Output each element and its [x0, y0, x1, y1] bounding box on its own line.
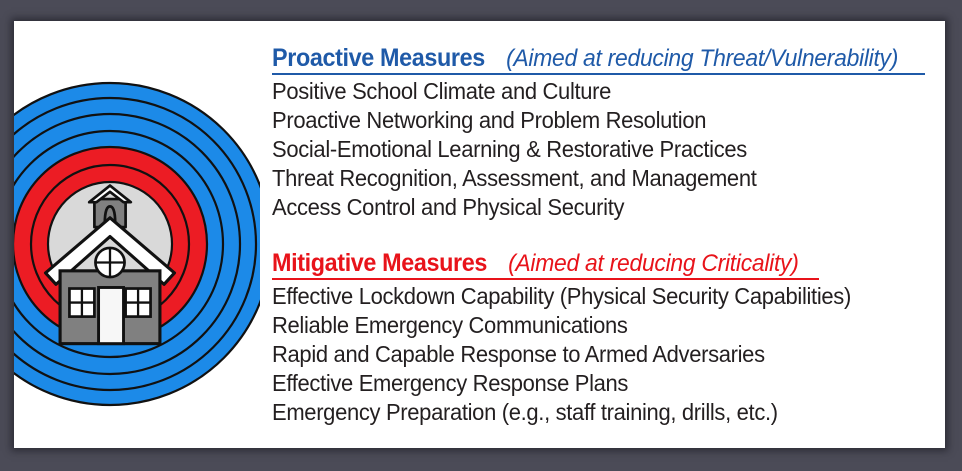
list-item: Emergency Preparation (e.g., staff train…: [272, 398, 901, 427]
proactive-heading-title: Proactive Measures: [272, 44, 485, 72]
mitigative-heading-subtitle: (Aimed at reducing Criticality): [502, 250, 799, 277]
list-item: Positive School Climate and Culture: [272, 77, 901, 106]
proactive-measures-list: Positive School Climate and Culture Proa…: [272, 77, 945, 222]
list-item: Rapid and Capable Response to Armed Adve…: [272, 340, 901, 369]
target-rings-svg: [14, 74, 260, 414]
list-item: Proactive Networking and Problem Resolut…: [272, 106, 901, 135]
screenshot-stage: Proactive Measures (Aimed at reducing Th…: [0, 0, 962, 471]
list-item: Effective Emergency Response Plans: [272, 369, 901, 398]
proactive-heading-subtitle: (Aimed at reducing Threat/Vulnerability): [500, 45, 898, 72]
mitigative-heading-title: Mitigative Measures: [272, 249, 487, 277]
mitigative-heading: Mitigative Measures (Aimed at reducing C…: [272, 249, 819, 280]
section-proactive-measures: Proactive Measures (Aimed at reducing Th…: [272, 44, 945, 222]
section-mitigative-measures: Mitigative Measures (Aimed at reducing C…: [272, 249, 945, 427]
list-item: Threat Recognition, Assessment, and Mana…: [272, 164, 901, 193]
content-card: Proactive Measures (Aimed at reducing Th…: [14, 21, 945, 448]
measures-text-column: Proactive Measures (Aimed at reducing Th…: [272, 21, 945, 448]
list-item: Social-Emotional Learning & Restorative …: [272, 135, 901, 164]
list-item: Reliable Emergency Communications: [272, 311, 901, 340]
school-door: [99, 287, 124, 343]
concentric-target-graphic: [14, 21, 260, 448]
list-item: Access Control and Physical Security: [272, 193, 901, 222]
list-item: Effective Lockdown Capability (Physical …: [272, 282, 901, 311]
proactive-heading: Proactive Measures (Aimed at reducing Th…: [272, 44, 925, 75]
mitigative-measures-list: Effective Lockdown Capability (Physical …: [272, 282, 945, 427]
